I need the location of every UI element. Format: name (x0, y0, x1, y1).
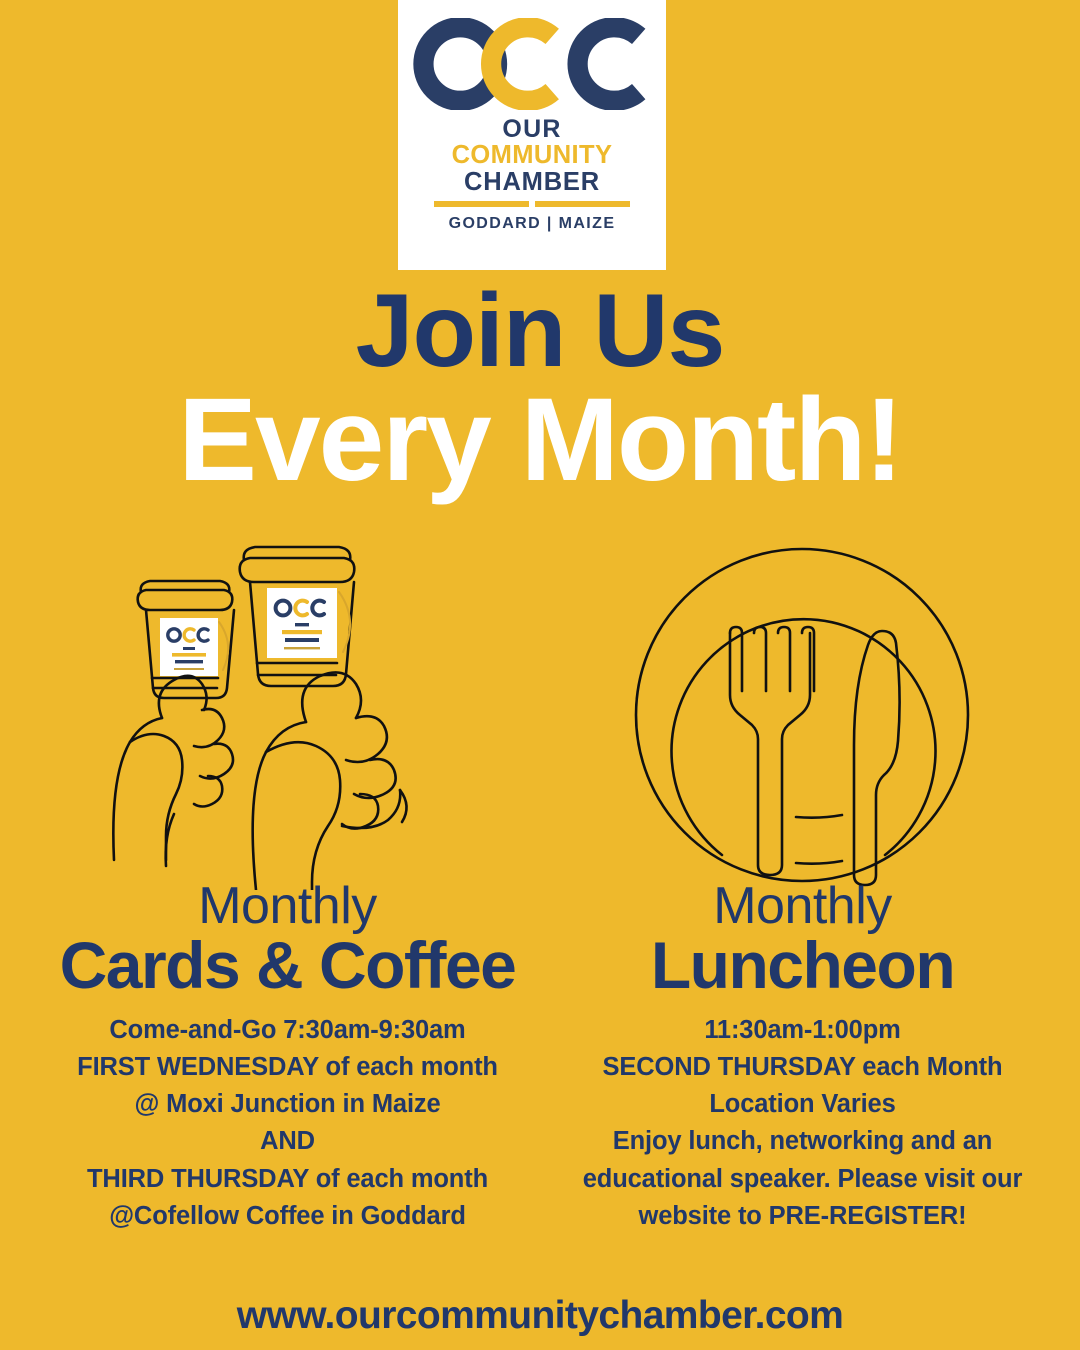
column-details-right: 11:30am-1:00pm SECOND THURSDAY each Mont… (545, 1012, 1060, 1235)
logo-line-community: COMMUNITY (434, 142, 630, 169)
logo-line-our: OUR (434, 116, 630, 142)
column-cards-and-coffee: Monthly Cards & Coffee Come-and-Go 7:30a… (25, 880, 550, 1235)
website-url[interactable]: www.ourcommunitychamber.com (0, 1294, 1080, 1338)
detail-line: AND (25, 1123, 550, 1160)
detail-line: @Cofellow Coffee in Goddard (25, 1198, 550, 1235)
logo-divider-rule (434, 201, 630, 207)
detail-line: Location Varies (545, 1086, 1060, 1123)
poster-canvas: OUR COMMUNITY CHAMBER GODDARD | MAIZE Jo… (0, 0, 1080, 1350)
detail-line: THIRD THURSDAY of each month (25, 1161, 550, 1198)
detail-line: 11:30am-1:00pm (545, 1012, 1060, 1049)
plate-fork-knife-icon (630, 545, 990, 890)
detail-line: SECOND THURSDAY each Month (545, 1049, 1060, 1086)
detail-line: @ Moxi Junction in Maize (25, 1086, 550, 1123)
occ-monogram-icon (412, 18, 652, 110)
column-title-right: Luncheon (545, 931, 1060, 1000)
occ-logo-block: OUR COMMUNITY CHAMBER GODDARD | MAIZE (398, 0, 666, 270)
logo-line-chamber: CHAMBER (434, 169, 630, 196)
occ-logo-wordmark: OUR COMMUNITY CHAMBER GODDARD | MAIZE (434, 116, 630, 233)
detail-line: Enjoy lunch, networking and an education… (545, 1123, 1060, 1235)
headline-line-join-us: Join Us (0, 282, 1080, 382)
logo-line-cities: GODDARD | MAIZE (434, 216, 630, 233)
detail-line: Come-and-Go 7:30am-9:30am (25, 1012, 550, 1049)
headline-line-every-month: Every Month! (0, 384, 1080, 497)
column-title-left: Cards & Coffee (25, 931, 550, 1000)
column-kicker-left: Monthly (25, 880, 550, 933)
column-luncheon: Monthly Luncheon 11:30am-1:00pm SECOND T… (545, 880, 1060, 1235)
two-hands-holding-coffee-cups-icon (110, 530, 510, 890)
detail-line: FIRST WEDNESDAY of each month (25, 1049, 550, 1086)
headline-block: Join Us Every Month! (0, 282, 1080, 497)
column-kicker-right: Monthly (545, 880, 1060, 933)
column-details-left: Come-and-Go 7:30am-9:30am FIRST WEDNESDA… (25, 1012, 550, 1235)
